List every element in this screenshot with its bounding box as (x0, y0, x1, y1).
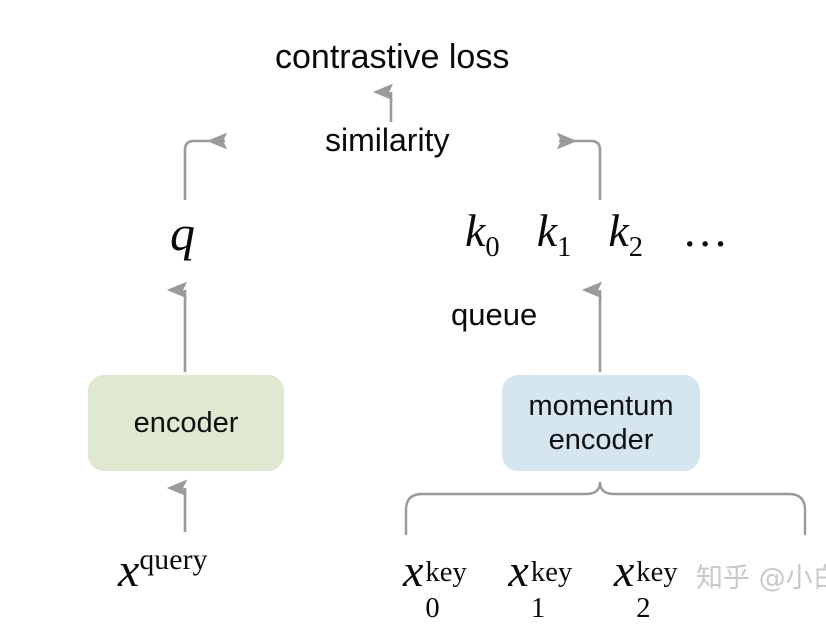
queue-label: queue (451, 299, 537, 330)
arrow-q-to-similarity (185, 141, 225, 200)
similarity-label: similarity (325, 124, 449, 156)
arrow-k-to-similarity (559, 141, 600, 200)
encoder-box[interactable]: encoder (88, 375, 284, 471)
key-inputs-group: xkey0 xkey1 xkey2 (403, 548, 634, 594)
momentum-encoder-box[interactable]: momentum encoder (502, 375, 700, 471)
key-input-2: xkey2 (614, 545, 634, 596)
key-inputs-brace (406, 482, 805, 534)
momentum-encoder-box-label-line1: momentum (528, 389, 673, 423)
key-input-1: xkey1 (508, 545, 528, 596)
query-input-superscript: query (139, 543, 207, 576)
query-input-base: x (118, 544, 139, 597)
contrastive-loss-label: contrastive loss (275, 40, 509, 74)
key-symbol-0: k0 (465, 205, 500, 256)
zhihu-watermark: 知乎 @小白 (696, 565, 826, 592)
key-symbol-2: k2 (608, 205, 643, 256)
key-symbol-1: k1 (537, 205, 572, 256)
keys-ellipsis: … (682, 205, 728, 256)
key-input-0: xkey0 (403, 545, 423, 596)
figure-canvas: contrastive loss similarity q k0 k1 k2 …… (0, 0, 826, 634)
connector-layer (0, 0, 826, 634)
q-glyph: q (170, 205, 195, 261)
momentum-encoder-box-label-line2: encoder (549, 423, 654, 457)
query-representation-symbol: q (170, 208, 195, 258)
key-representations-group: k0 k1 k2 … (465, 208, 728, 263)
encoder-box-label: encoder (134, 406, 239, 440)
query-input-symbol: xquery (118, 545, 208, 595)
